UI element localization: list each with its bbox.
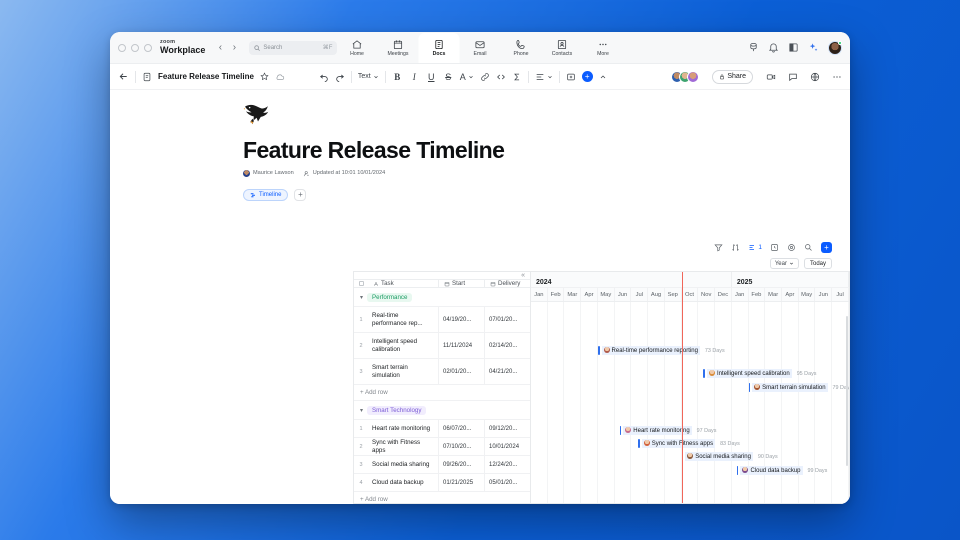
text-column-icon [373,281,379,287]
bar-label-wrap: Sync with Fitness apps [642,439,715,448]
gridline-column [615,302,632,503]
month-tick: Apr [581,288,598,301]
avatar [687,71,699,83]
nav-item-home[interactable]: Home [337,33,378,63]
bar-label: Real-time performance reporting [612,348,698,354]
month-tick: Mar [564,288,581,301]
code-icon [496,72,506,82]
month-tick: Feb [548,288,565,301]
page-icon [142,72,152,82]
page-title: Feature Release Timeline [243,138,832,163]
gantt-bar[interactable]: Real-time performance reporting73 Days [598,346,725,355]
link-button[interactable] [480,72,490,82]
gridline-column [531,302,548,503]
ai-sparkle-icon[interactable] [808,42,819,53]
nav-item-docs[interactable]: Docs [419,33,460,63]
tab-label: Timeline [259,192,281,198]
month-tick: Jun [815,288,832,301]
minimize-button[interactable] [131,44,139,52]
ellipsis-icon [832,72,842,82]
column-header-delivery[interactable]: Delivery [484,280,530,287]
row-index: 3 [354,456,368,473]
search-placeholder: Search [263,45,282,51]
top-navigation: Home Meetings Docs Email Phone Contacts [337,32,624,63]
whiteboard-icon[interactable] [748,42,759,53]
row-start-date[interactable]: 02/01/20... [438,359,484,384]
search-shortcut: ⌘F [323,44,333,51]
row-delivery-date[interactable]: 09/12/20... [484,420,530,437]
redo-icon [335,72,345,82]
bar-avatar [625,427,631,433]
formula-button[interactable] [512,72,522,82]
group-collapse-caret[interactable]: ▾ [360,294,363,301]
bar-label-wrap: Smart terrain simulation [752,383,827,392]
group-row[interactable]: ▾Smart Technology [354,401,530,420]
month-tick: Sep [665,288,682,301]
bar-start-handle[interactable] [598,346,600,355]
bar-start-handle[interactable] [737,466,739,475]
align-icon [535,72,545,82]
link-icon [480,72,490,82]
gridline-column [682,302,699,503]
search-input[interactable]: Search ⌘F [249,41,337,55]
board-tabs: Timeline + [243,189,832,201]
group-label: Smart Technology [367,406,426,415]
share-button[interactable]: Share [712,70,753,84]
month-tick: Nov [698,288,715,301]
select-all-cell[interactable] [354,281,368,286]
underline-button[interactable]: U [426,72,437,82]
row-task-name[interactable]: Heart rate monitoring [368,420,438,437]
gantt-month-axis: JanFebMarAprMayJunJulAugSepOctNovDecJanF… [531,288,849,302]
collaborator-avatars[interactable] [671,71,699,83]
divider [135,71,136,83]
document-meta: Maurice Lawson Updated at 10:01 10/01/20… [243,170,832,177]
bar-duration: 90 Days [758,454,778,460]
window-controls[interactable] [118,44,152,52]
month-tick: Jul [631,288,648,301]
bar-label-wrap: Real-time performance reporting [602,346,700,355]
ellipsis-icon [598,39,609,50]
cloud-saved-icon [275,72,285,82]
gridline-column [581,302,598,503]
zoom-workplace-logo: zoom Workplace [160,40,205,56]
chevron-down-icon [547,74,553,80]
row-task-name[interactable]: Real-time performance rep... [368,307,438,332]
table-row[interactable]: 3Smart terrain simulation02/01/20...04/2… [354,359,530,385]
filter-button[interactable] [714,243,723,252]
group-collapse-caret[interactable]: ▾ [360,407,363,414]
gantt-bar[interactable]: Social media sharing90 Days [682,452,778,461]
row-delivery-date[interactable]: 07/01/20... [484,307,530,332]
bar-duration: 99 Days [808,468,828,474]
maximize-button[interactable] [144,44,152,52]
month-tick: Jul [832,288,849,301]
status-dot [838,41,842,45]
nav-item-meetings[interactable]: Meetings [378,33,419,63]
gridline-column [598,302,615,503]
brand-large: Workplace [160,46,205,55]
bar-avatar [687,453,693,459]
row-index: 3 [354,359,368,384]
bar-label: Cloud data backup [750,468,800,474]
bar-label: Social media sharing [695,454,751,460]
row-index: 1 [354,307,368,332]
row-task-name[interactable]: Social media sharing [368,456,438,473]
group-button[interactable]: 1 [748,243,762,252]
chevron-down-icon [468,74,474,80]
sort-button[interactable] [731,243,740,252]
today-button[interactable]: Today [804,258,832,269]
nav-item-phone[interactable]: Phone [501,33,542,63]
row-start-date[interactable]: 06/07/20... [438,420,484,437]
month-tick: May [799,288,816,301]
video-icon [766,72,776,82]
row-start-date[interactable]: 11/11/2024 [438,333,484,358]
month-tick: Jan [531,288,548,301]
divider [385,71,386,83]
title-bar: zoom Workplace ‹ › Search ⌘F Home Meetin… [110,32,850,64]
arrow-left-icon [118,71,129,82]
group-row[interactable]: ▾Performance [354,288,530,307]
add-record-button[interactable]: + [821,242,832,253]
bar-avatar [709,370,715,376]
task-grid: « Task Start Delivery [353,271,530,504]
gantt-bar[interactable]: Smart terrain simulation79 Days [749,383,850,392]
row-delivery-date[interactable]: 02/14/20... [484,333,530,358]
table-row[interactable]: 3Social media sharing09/26/20...12/24/20… [354,456,530,474]
row-index: 1 [354,420,368,437]
font-color-button[interactable]: A [460,72,474,82]
row-index: 2 [354,438,368,455]
nav-item-more[interactable]: More [583,33,624,63]
strikethrough-button[interactable]: S [443,72,454,82]
bar-start-handle[interactable] [749,383,751,392]
add-block-button[interactable]: + [582,71,593,82]
grid-header: Task Start Delivery [354,280,530,288]
month-tick: Oct [682,288,699,301]
undo-icon [319,72,329,82]
author-avatar [243,170,250,177]
month-tick: Jan [732,288,749,301]
bar-label: Intelligent speed calibration [717,371,790,377]
undo-button[interactable] [319,72,329,82]
row-start-date[interactable]: 04/19/20... [438,307,484,332]
clock-icon [770,243,779,252]
board-toolbar: 1 + [714,242,832,253]
bar-label-wrap: Cloud data backup [740,466,802,475]
document-toolbar: Feature Release Timeline Text B I U S A … [110,64,850,90]
month-tick: Feb [749,288,766,301]
timeline-widget: « Task Start Delivery [353,271,850,504]
document-title-chip[interactable]: Feature Release Timeline [158,72,254,81]
year-label: 2024 [531,272,732,287]
month-tick: Mar [765,288,782,301]
bar-label-wrap: Social media sharing [685,452,753,461]
search-icon [804,243,813,252]
date-column-icon [490,281,496,287]
row-start-date[interactable]: 09/26/20... [438,456,484,473]
collapse-toolbar-button[interactable] [599,73,607,81]
doc-type-icon[interactable] [142,72,152,82]
formatting-tools: Text B I U S A + [319,71,607,83]
gantt-bar[interactable]: Sync with Fitness apps83 Days [638,439,740,448]
grid-groups: ▾Performance1Real-time performance rep..… [354,288,530,504]
row-task-name[interactable]: Smart terrain simulation [368,359,438,384]
more-options-button[interactable] [832,72,842,82]
add-row-button[interactable]: + Add row [354,385,530,401]
chevron-down-icon [789,261,794,266]
bar-avatar [604,347,610,353]
settings-button[interactable] [787,243,796,252]
gridline-column [548,302,565,503]
date-column-icon [444,281,450,287]
contacts-icon [557,39,568,50]
bar-duration: 83 Days [720,441,740,447]
close-button[interactable] [118,44,126,52]
bar-start-handle[interactable] [703,369,705,378]
author-name: Maurice Lawson [253,170,294,176]
row-index: 2 [354,333,368,358]
phone-icon [516,39,527,50]
board-search-button[interactable] [804,243,813,252]
month-tick: Jun [615,288,632,301]
app-window: zoom Workplace ‹ › Search ⌘F Home Meetin… [110,32,850,504]
table-row[interactable]: 1Real-time performance rep...04/19/20...… [354,307,530,333]
chevron-up-icon [599,73,607,81]
month-tick: Aug [648,288,665,301]
row-delivery-date[interactable]: 12/24/20... [484,456,530,473]
gantt-year-axis: 20242025 [531,272,849,288]
gridline-column [665,302,682,503]
month-tick: Dec [715,288,732,301]
document-content: Feature Release Timeline Maurice Lawson … [110,102,850,201]
gear-icon [787,243,796,252]
gridline-column [564,302,581,503]
month-tick: May [598,288,615,301]
document-page: Feature Release Timeline Maurice Lawson … [110,90,850,504]
redo-button[interactable] [335,72,345,82]
table-row[interactable]: 4Cloud data backup01/21/202505/01/20... [354,474,530,492]
add-row-button[interactable]: + Add row [354,492,530,504]
nav-forward-button[interactable]: › [227,42,241,53]
gantt-controls: Year Today [770,258,832,269]
grid-collapse-row: « [354,272,530,280]
table-row[interactable]: 1Heart rate monitoring06/07/20...09/12/2… [354,420,530,438]
group-icon [748,243,757,252]
row-start-date[interactable]: 01/21/2025 [438,474,484,491]
filter-icon [714,243,723,252]
nav-back-button[interactable]: ‹ [213,42,227,53]
bar-avatar [644,440,650,446]
code-button[interactable] [496,72,506,82]
range-label: Year [775,261,787,267]
gantt-chart: 20242025 JanFebMarAprMayJunJulAugSepOctN… [530,271,850,504]
gantt-bar[interactable]: Heart rate monitoring97 Days [620,426,717,435]
row-task-name[interactable]: Cloud data backup [368,474,438,491]
eagle-emoji-icon [243,102,273,128]
row-task-name[interactable]: Intelligent speed calibration [368,333,438,358]
gantt-body: Real-time performance reporting73 DaysIn… [531,302,849,503]
row-delivery-date[interactable]: 10/01/2024 [484,438,530,455]
titlebar-right-actions [748,41,842,55]
add-tab-button[interactable]: + [294,189,306,201]
calendar-icon [393,39,404,50]
timeline-icon [250,192,256,198]
bar-duration: 97 Days [697,428,717,434]
star-icon[interactable] [260,72,269,81]
sigma-icon [512,72,522,82]
row-delivery-date[interactable]: 05/01/20... [484,474,530,491]
divider [559,71,560,83]
bar-duration: 73 Days [705,348,725,354]
column-header-task[interactable]: Task [368,280,438,287]
range-dropdown[interactable]: Year [770,258,799,269]
gridline-column [698,302,715,503]
row-start-date[interactable]: 07/10/20... [438,438,484,455]
share-label: Share [727,73,746,80]
home-icon [352,39,363,50]
user-avatar[interactable] [828,41,842,55]
bar-label: Smart terrain simulation [762,385,825,391]
bell-icon[interactable] [768,42,779,53]
month-tick: Apr [782,288,799,301]
comment-button[interactable] [788,72,798,82]
text-style-dropdown[interactable]: Text [358,73,379,80]
comment-icon [788,72,798,82]
insert-icon [566,72,576,82]
tab-timeline[interactable]: Timeline [243,189,288,201]
column-header-start[interactable]: Start [438,280,484,287]
collapse-grid-button[interactable]: « [521,272,525,279]
bar-start-handle[interactable] [638,439,640,448]
doc-icon [434,39,445,50]
bar-avatar [754,384,760,390]
group-label: Performance [367,293,412,302]
updated-info: Updated at 10:01 10/01/2024 [303,170,385,177]
chevron-down-icon [373,74,379,80]
updated-text: Updated at 10:01 10/01/2024 [313,170,385,176]
insert-media-button[interactable] [566,72,576,82]
bar-label-wrap: Intelligent speed calibration [707,369,792,378]
gridline-column [715,302,732,503]
bar-duration: 95 Days [797,371,817,377]
sidebar-toggle-icon[interactable] [788,42,799,53]
year-label: 2025 [732,272,849,287]
globe-icon [810,72,820,82]
row-task-name[interactable]: Sync with Fitness apps [368,438,438,455]
history-icon [303,170,310,177]
today-marker-line [682,272,683,503]
author-info: Maurice Lawson [243,170,294,177]
nav-item-email[interactable]: Email [460,33,501,63]
gantt-scrollbar[interactable] [846,316,848,466]
publish-button[interactable] [810,72,820,82]
italic-button[interactable]: I [409,72,420,82]
table-row[interactable]: 2Intelligent speed calibration11/11/2024… [354,333,530,359]
back-to-docs-button[interactable] [118,71,129,82]
sort-icon [731,243,740,252]
version-history-button[interactable] [770,243,779,252]
divider [528,71,529,83]
gantt-bar[interactable]: Intelligent speed calibration95 Days [703,369,816,378]
group-count: 1 [758,244,762,251]
mail-icon [475,39,486,50]
bar-avatar [742,467,748,473]
row-delivery-date[interactable]: 04/21/20... [484,359,530,384]
lock-icon [719,74,725,80]
bar-start-handle[interactable] [620,426,622,435]
row-index: 4 [354,474,368,491]
table-row[interactable]: 2Sync with Fitness apps07/10/20...10/01/… [354,438,530,456]
gantt-bar[interactable]: Cloud data backup99 Days [737,466,827,475]
align-dropdown[interactable] [535,72,553,82]
select-all-checkbox[interactable] [359,281,364,286]
nav-item-contacts[interactable]: Contacts [542,33,583,63]
video-button[interactable] [766,72,776,82]
divider [351,71,352,83]
bold-button[interactable]: B [392,72,403,82]
search-icon [254,45,260,51]
gridline-column [648,302,665,503]
gridline-column [631,302,648,503]
